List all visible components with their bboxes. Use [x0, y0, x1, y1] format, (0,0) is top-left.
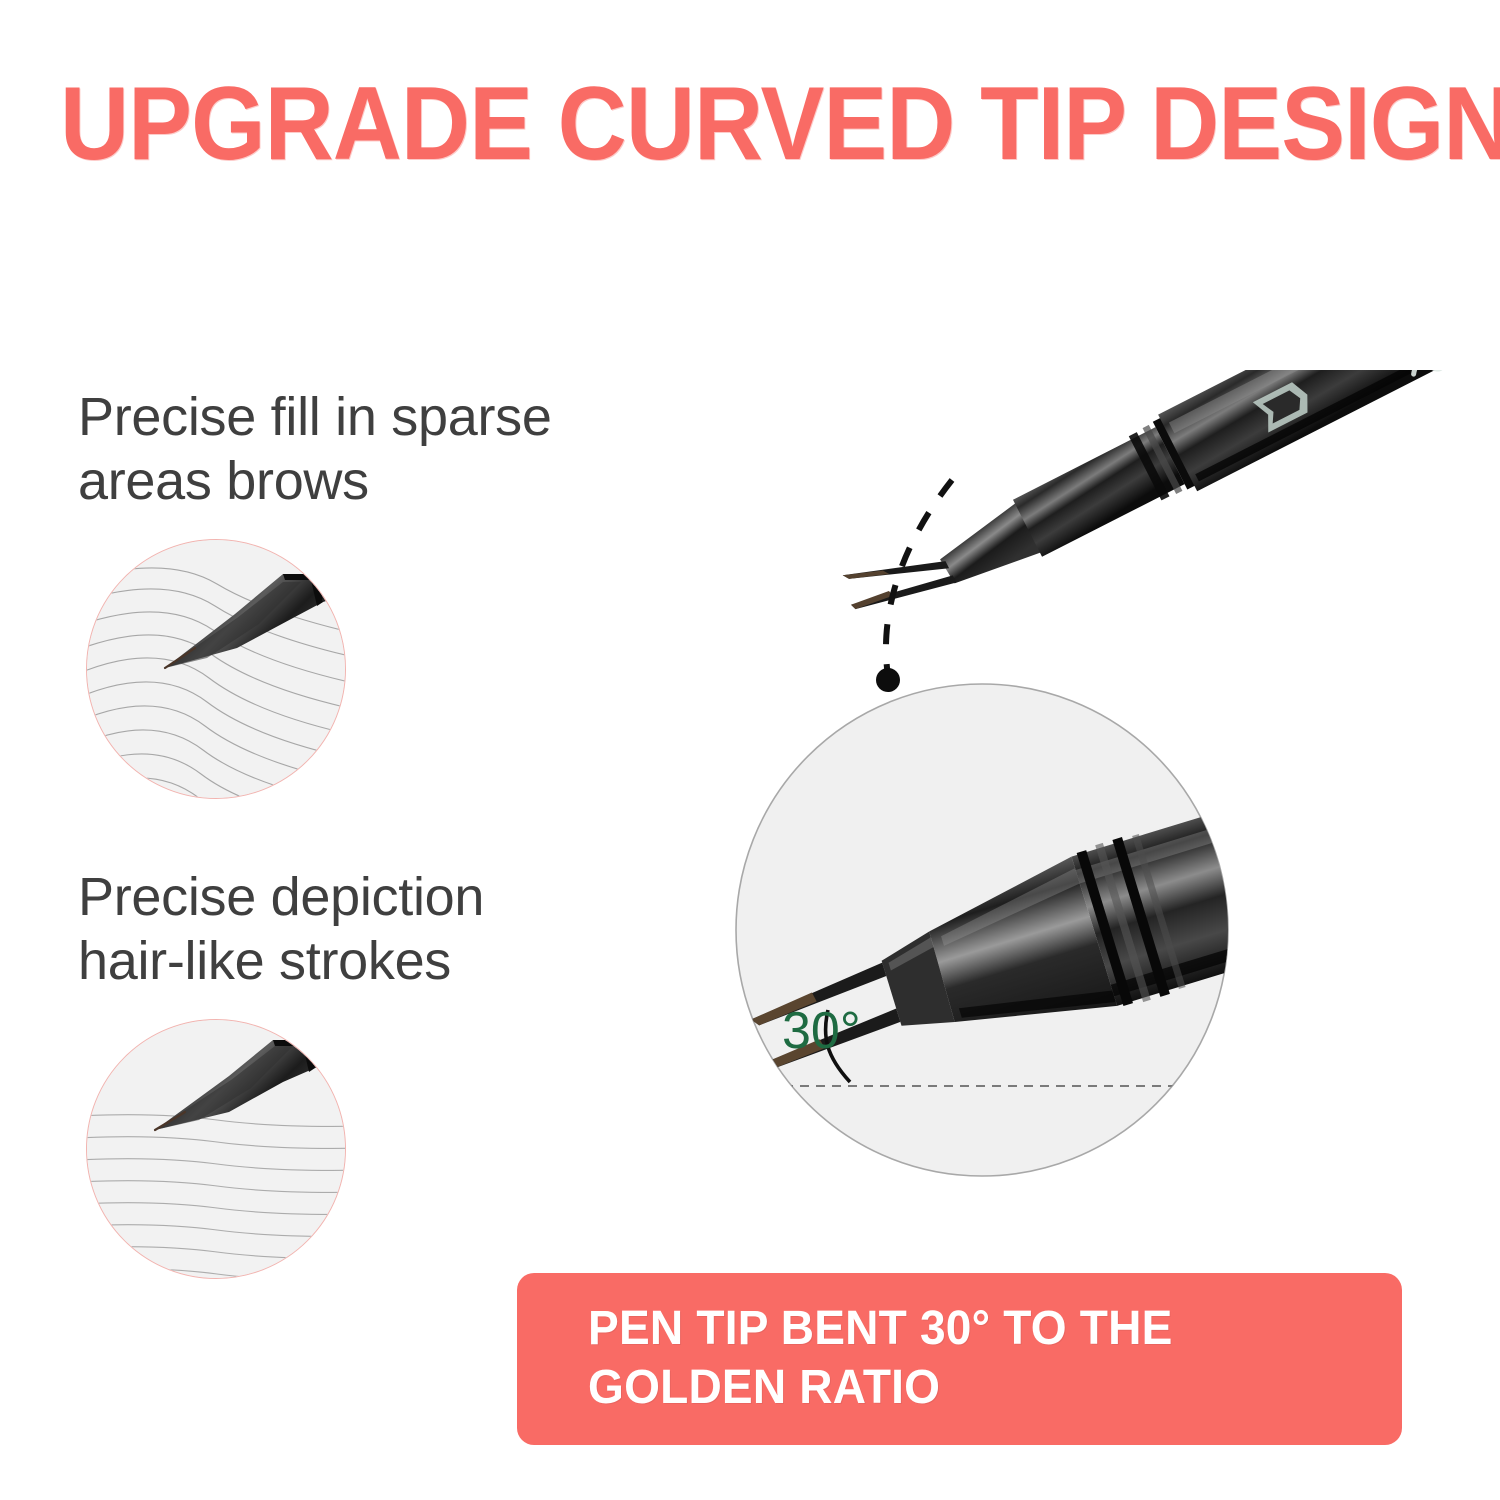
product-illustration: up — [700, 370, 1500, 1200]
tip-angle-magnifier: 30° — [721, 684, 1392, 1176]
pen-tip-upper — [843, 531, 949, 613]
swatch-hair-like-strokes — [86, 1019, 346, 1279]
feature-label-precise-fill: Precise fill in sparse areas brows — [78, 386, 710, 513]
pen-body: up — [837, 370, 1491, 656]
feature-block-hair-like-strokes: Precise depiction hair-like strokes — [70, 866, 710, 1279]
angle-label: 30° — [782, 1002, 861, 1060]
pen-tip-on-curved-hair-lines-icon — [87, 540, 345, 798]
swatch-precise-fill — [86, 539, 346, 799]
feature-block-precise-fill: Precise fill in sparse areas brows — [70, 386, 710, 799]
feature-label-hair-like-strokes: Precise depiction hair-like strokes — [78, 866, 710, 993]
pen-tip-on-horizontal-hair-lines-icon — [87, 1020, 345, 1278]
highlight-banner: PEN TIP BENT 30° TO THE GOLDEN RATIO — [517, 1273, 1402, 1445]
page-title: UPGRADE CURVED TIP DESIGN — [60, 72, 1440, 176]
highlight-banner-text: PEN TIP BENT 30° TO THE GOLDEN RATIO — [517, 1300, 1211, 1417]
callout-end-dot — [876, 668, 900, 692]
